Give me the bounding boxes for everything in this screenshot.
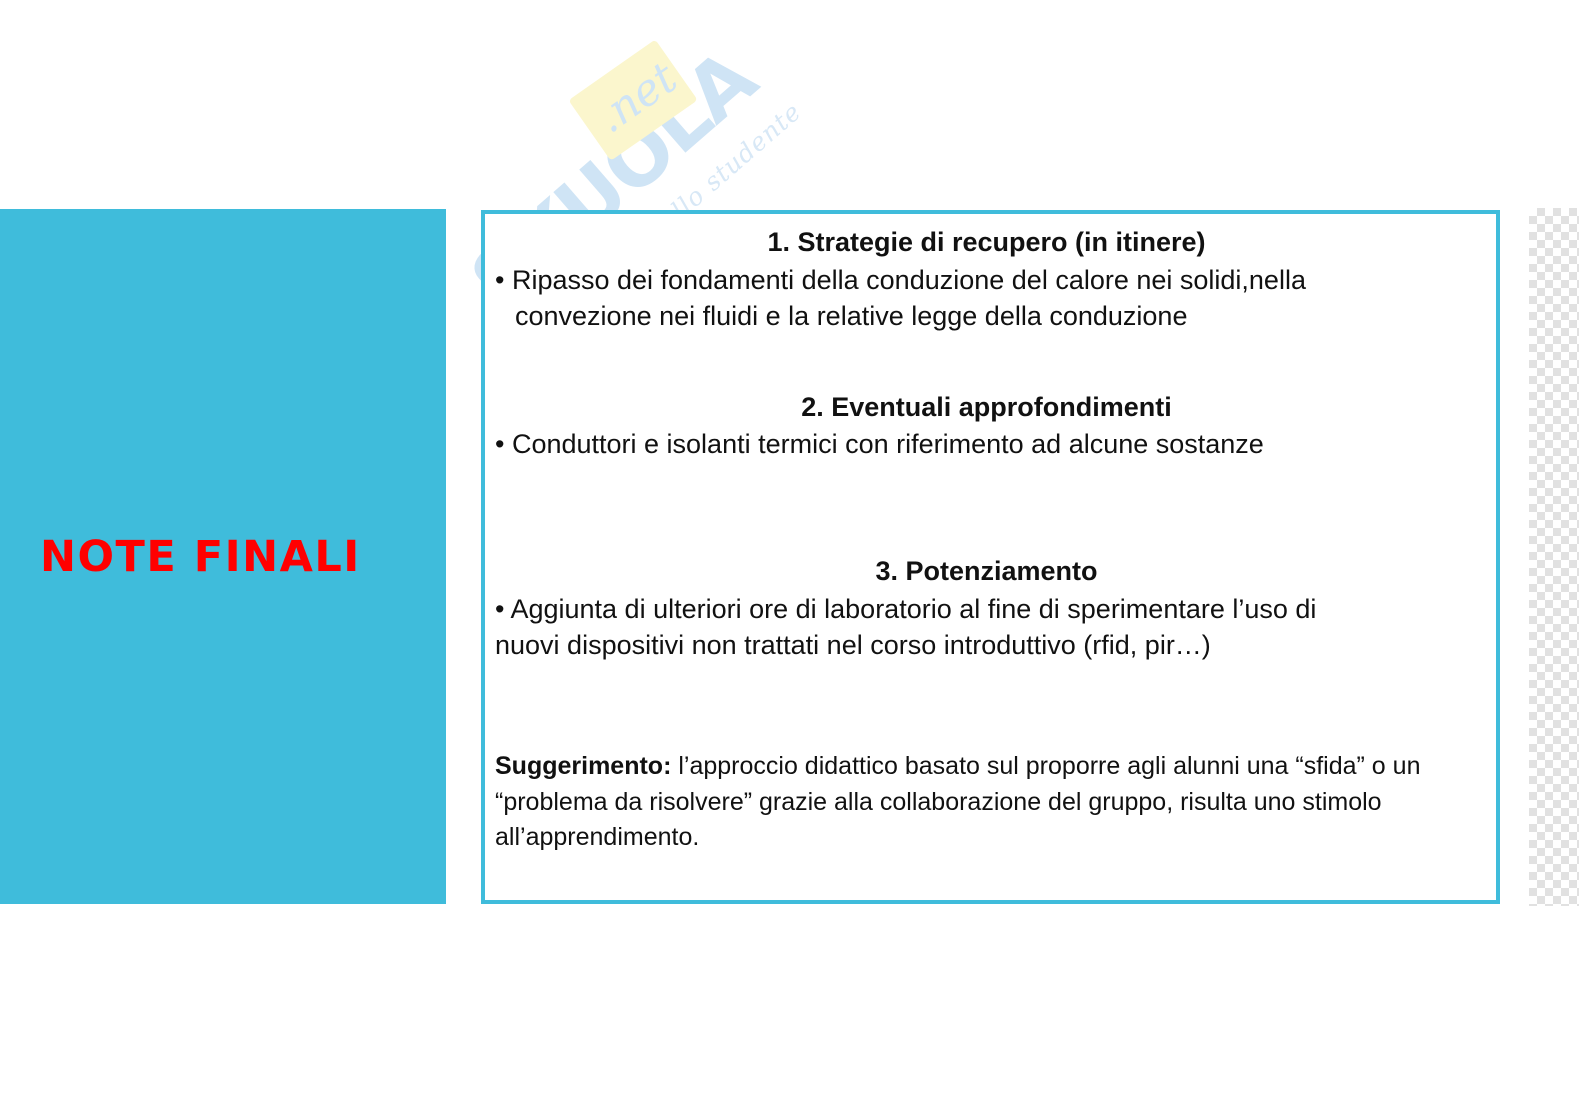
section-bullet-3: • Aggiunta di ulteriori ore di laborator… — [495, 591, 1478, 664]
watermark-badge-shape — [568, 39, 697, 160]
section-heading-1: 1. Strategie di recupero (in itinere) — [495, 226, 1478, 260]
section-heading-3: 3. Potenziamento — [495, 555, 1478, 589]
section-bullet-3-line2: nuovi dispositivi non trattati nel corso… — [495, 627, 1478, 663]
section-bullet-1-line1: • Ripasso dei fondamenti della conduzion… — [495, 265, 1306, 295]
content-box: 1. Strategie di recupero (in itinere) • … — [481, 210, 1500, 904]
watermark-suffix-text: .net — [587, 52, 687, 143]
spacer-3 — [495, 663, 1478, 749]
suggestion-paragraph: Suggerimento: l’approccio didattico basa… — [495, 749, 1478, 856]
suggestion-label: Suggerimento: — [495, 752, 671, 780]
section-bullet-2: • Conduttori e isolanti termici con rife… — [495, 426, 1478, 462]
transparency-checkerboard-strip — [1529, 208, 1579, 906]
section-bullet-1-line2: convezione nei fluidi e la relative legg… — [495, 298, 1478, 334]
section-heading-2: 2. Eventuali approfondimenti — [495, 391, 1478, 425]
spacer-2 — [495, 463, 1478, 555]
spacer-1 — [495, 335, 1478, 391]
section-bullet-2-line1: • Conduttori e isolanti termici con rife… — [495, 429, 1264, 459]
section-bullet-3-line1: • Aggiunta di ulteriori ore di laborator… — [495, 594, 1316, 624]
section-bullet-1: • Ripasso dei fondamenti della conduzion… — [495, 262, 1478, 335]
page-title: NOTE FINALI — [40, 532, 361, 582]
title-panel: NOTE FINALI — [0, 209, 446, 904]
